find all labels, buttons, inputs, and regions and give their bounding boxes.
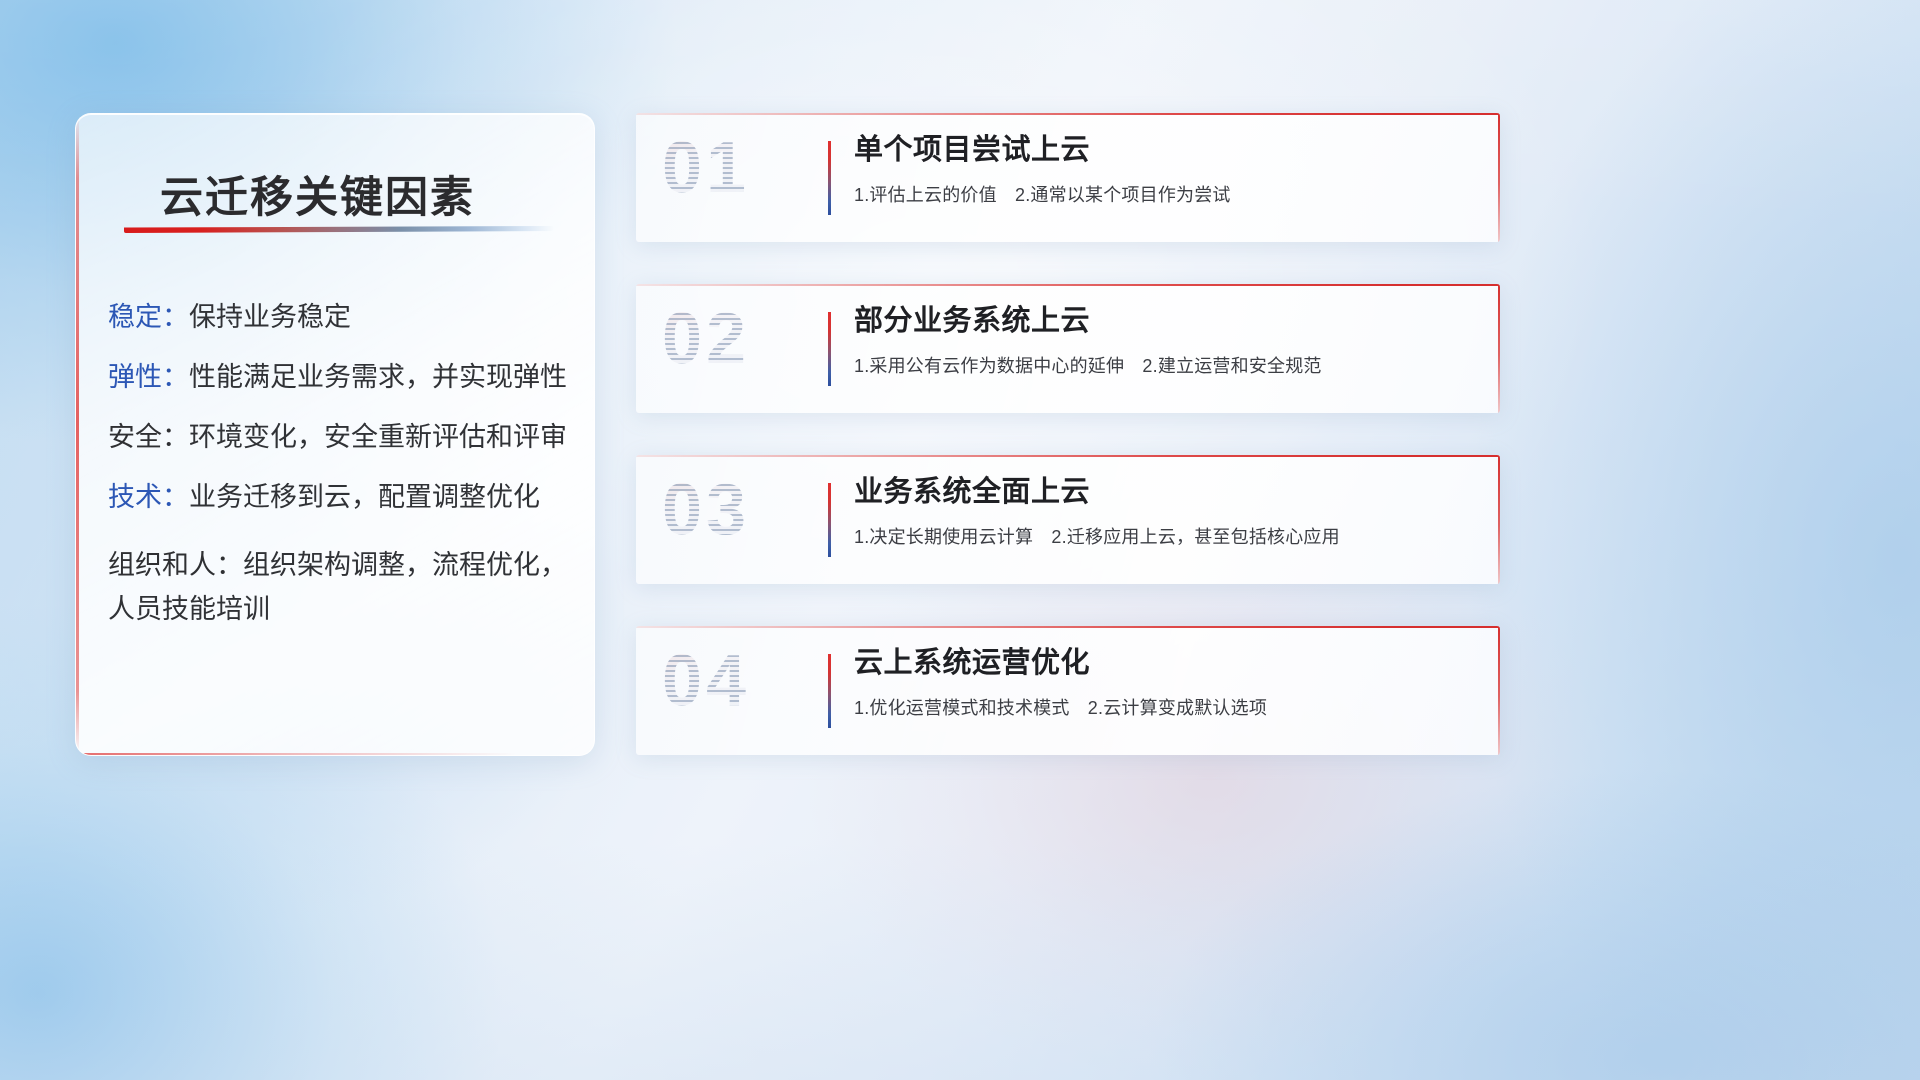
- stage-divider: [828, 654, 831, 728]
- stage-card[interactable]: 0303业务系统全面上云1.决定长期使用云计算 2.迁移应用上云，甚至包括核心应…: [636, 455, 1500, 584]
- stage-divider: [828, 312, 831, 386]
- key-factor-label: 弹性：: [108, 362, 189, 392]
- key-factor-text: 保持业务稳定: [189, 302, 351, 332]
- key-factor-label: 技术：: [108, 482, 189, 512]
- panel-title: 云迁移关键因素: [160, 163, 475, 225]
- key-factor-label: 稳定：: [108, 302, 189, 332]
- key-factor-item: 稳定：保持业务稳定: [108, 304, 568, 331]
- stage-card[interactable]: 0101单个项目尝试上云1.评估上云的价值 2.通常以某个项目作为尝试: [636, 113, 1500, 242]
- key-factor-item: 弹性：性能满足业务需求，并实现弹性: [108, 364, 568, 391]
- stage-title: 云上系统运营优化: [854, 648, 1476, 680]
- stage-number: 01: [662, 127, 750, 209]
- stage-number: 04: [662, 640, 750, 722]
- cloud-migration-stages: 0101单个项目尝试上云1.评估上云的价值 2.通常以某个项目作为尝试0202部…: [636, 113, 1500, 797]
- key-factor-text: 业务迁移到云，配置调整优化: [189, 482, 540, 512]
- key-factor-label: 组织和人：: [108, 550, 243, 580]
- stage-subtitle: 1.优化运营模式和技术模式 2.云计算变成默认选项: [854, 694, 1476, 720]
- stage-title: 业务系统全面上云: [854, 477, 1476, 509]
- key-factor-item: 组织和人：组织架构调整，流程优化，人员技能培训: [108, 544, 568, 631]
- stage-number: 02: [662, 298, 750, 380]
- title-underline-rule: [124, 226, 554, 233]
- key-factors-panel: 云迁移关键因素 稳定：保持业务稳定弹性：性能满足业务需求，并实现弹性安全：环境变…: [75, 113, 595, 756]
- stage-number: 03: [662, 469, 750, 551]
- stage-body: 云上系统运营优化1.优化运营模式和技术模式 2.云计算变成默认选项: [854, 648, 1476, 720]
- key-factor-text: 性能满足业务需求，并实现弹性: [189, 362, 567, 392]
- stage-subtitle: 1.评估上云的价值 2.通常以某个项目作为尝试: [854, 181, 1476, 207]
- key-factor-item: 技术：业务迁移到云，配置调整优化: [108, 484, 568, 511]
- key-factor-label: 安全：: [108, 422, 189, 452]
- stage-body: 单个项目尝试上云1.评估上云的价值 2.通常以某个项目作为尝试: [854, 135, 1476, 207]
- stage-body: 业务系统全面上云1.决定长期使用云计算 2.迁移应用上云，甚至包括核心应用: [854, 477, 1476, 549]
- stage-subtitle: 1.采用公有云作为数据中心的延伸 2.建立运营和安全规范: [854, 352, 1476, 378]
- stage-body: 部分业务系统上云1.采用公有云作为数据中心的延伸 2.建立运营和安全规范: [854, 306, 1476, 378]
- stage-card[interactable]: 0202部分业务系统上云1.采用公有云作为数据中心的延伸 2.建立运营和安全规范: [636, 284, 1500, 413]
- stage-title: 部分业务系统上云: [854, 306, 1476, 338]
- key-factor-item: 安全：环境变化，安全重新评估和评审: [108, 424, 568, 451]
- stage-divider: [828, 141, 831, 215]
- stage-divider: [828, 483, 831, 557]
- stage-subtitle: 1.决定长期使用云计算 2.迁移应用上云，甚至包括核心应用: [854, 523, 1476, 549]
- key-factors-list: 稳定：保持业务稳定弹性：性能满足业务需求，并实现弹性安全：环境变化，安全重新评估…: [108, 304, 568, 664]
- stage-card[interactable]: 0404云上系统运营优化1.优化运营模式和技术模式 2.云计算变成默认选项: [636, 626, 1500, 755]
- stage-title: 单个项目尝试上云: [854, 135, 1476, 167]
- key-factor-text: 环境变化，安全重新评估和评审: [189, 422, 567, 452]
